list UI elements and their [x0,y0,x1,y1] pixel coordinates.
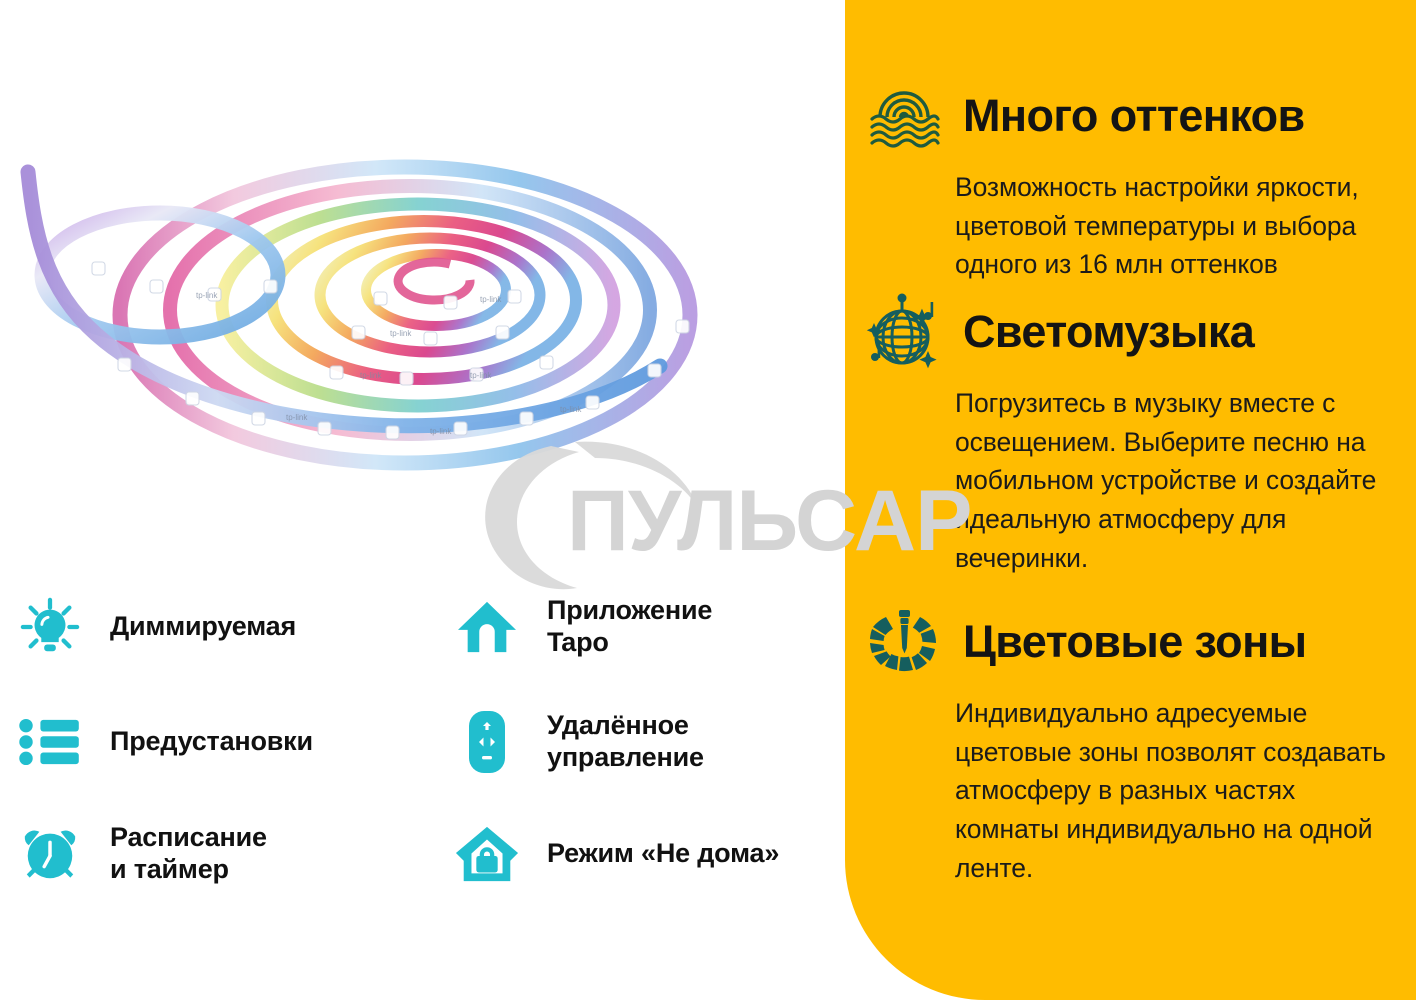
bullet-list-presets-icon [8,700,92,784]
feature-label: Приложение Tapo [547,595,712,659]
features-yellow-panel: Много оттенков Возможность настройки ярк… [845,0,1416,1000]
svg-text:tp-link: tp-link [286,413,308,422]
feature-item-away-mode[interactable]: Режим «Не дома» [425,798,845,910]
feature-label: Расписание и таймер [110,822,267,886]
feature-label: Диммируемая [110,611,296,643]
panel-block-header: Много оттенков [845,72,1416,158]
panel-block-title: Много оттенков [963,93,1305,138]
feature-item-presets[interactable]: Предустановки [0,686,425,798]
panel-block-header: Цветовые зоны [845,598,1416,684]
panel-block-body: Погрузитесь в музыку вместе с освещением… [955,384,1403,577]
disco-ball-music-icon [859,288,949,374]
rainbow-waves-icon [859,72,949,158]
product-image-area: tp-link tp-link tp-link tp-link tp-link … [0,0,845,1000]
feature-label: Предустановки [110,726,313,758]
panel-block-many-shades: Много оттенков Возможность настройки ярк… [845,72,1416,284]
panel-block-light-music: Светомузыка Погрузитесь в музыку вместе … [845,288,1416,577]
led-strip-spiral-photo: tp-link tp-link tp-link tp-link tp-link … [0,120,800,520]
feature-item-remote-control[interactable]: Удалённое управление [425,686,845,798]
svg-text:tp-link: tp-link [360,371,382,380]
panel-block-title: Светомузыка [963,309,1254,354]
house-lock-away-icon [445,812,529,896]
feature-icon-grid: Диммируемая Приложение Tapo [0,568,845,908]
home-app-icon [445,585,529,669]
product-feature-sheet: tp-link tp-link tp-link tp-link tp-link … [0,0,1416,1000]
feature-label: Режим «Не дома» [547,838,779,870]
feature-label: Удалённое управление [547,710,704,774]
svg-text:tp-link: tp-link [390,329,412,338]
svg-text:tp-link: tp-link [430,427,452,436]
panel-block-body: Возможность настройки яркости, цветовой … [955,168,1403,284]
svg-text:tp-link: tp-link [560,405,582,414]
svg-text:tp-link: tp-link [480,295,502,304]
svg-text:tp-link: tp-link [196,291,218,300]
panel-block-color-zones: Цветовые зоны Индивидуально адресуемые ц… [845,598,1416,887]
svg-text:tp-link: tp-link [470,371,492,380]
panel-block-body: Индивидуально адресуемые цветовые зоны п… [955,694,1403,887]
light-bulb-dimmable-icon [8,585,92,669]
panel-block-header: Светомузыка [845,288,1416,374]
remote-control-icon [445,700,529,784]
alarm-clock-icon [8,812,92,896]
feature-item-dimmable[interactable]: Диммируемая [0,568,425,686]
feature-item-schedule-timer[interactable]: Расписание и таймер [0,798,425,910]
panel-block-title: Цветовые зоны [963,619,1306,664]
color-picker-wheel-icon [859,598,949,684]
feature-item-tapo-app[interactable]: Приложение Tapo [425,568,845,686]
